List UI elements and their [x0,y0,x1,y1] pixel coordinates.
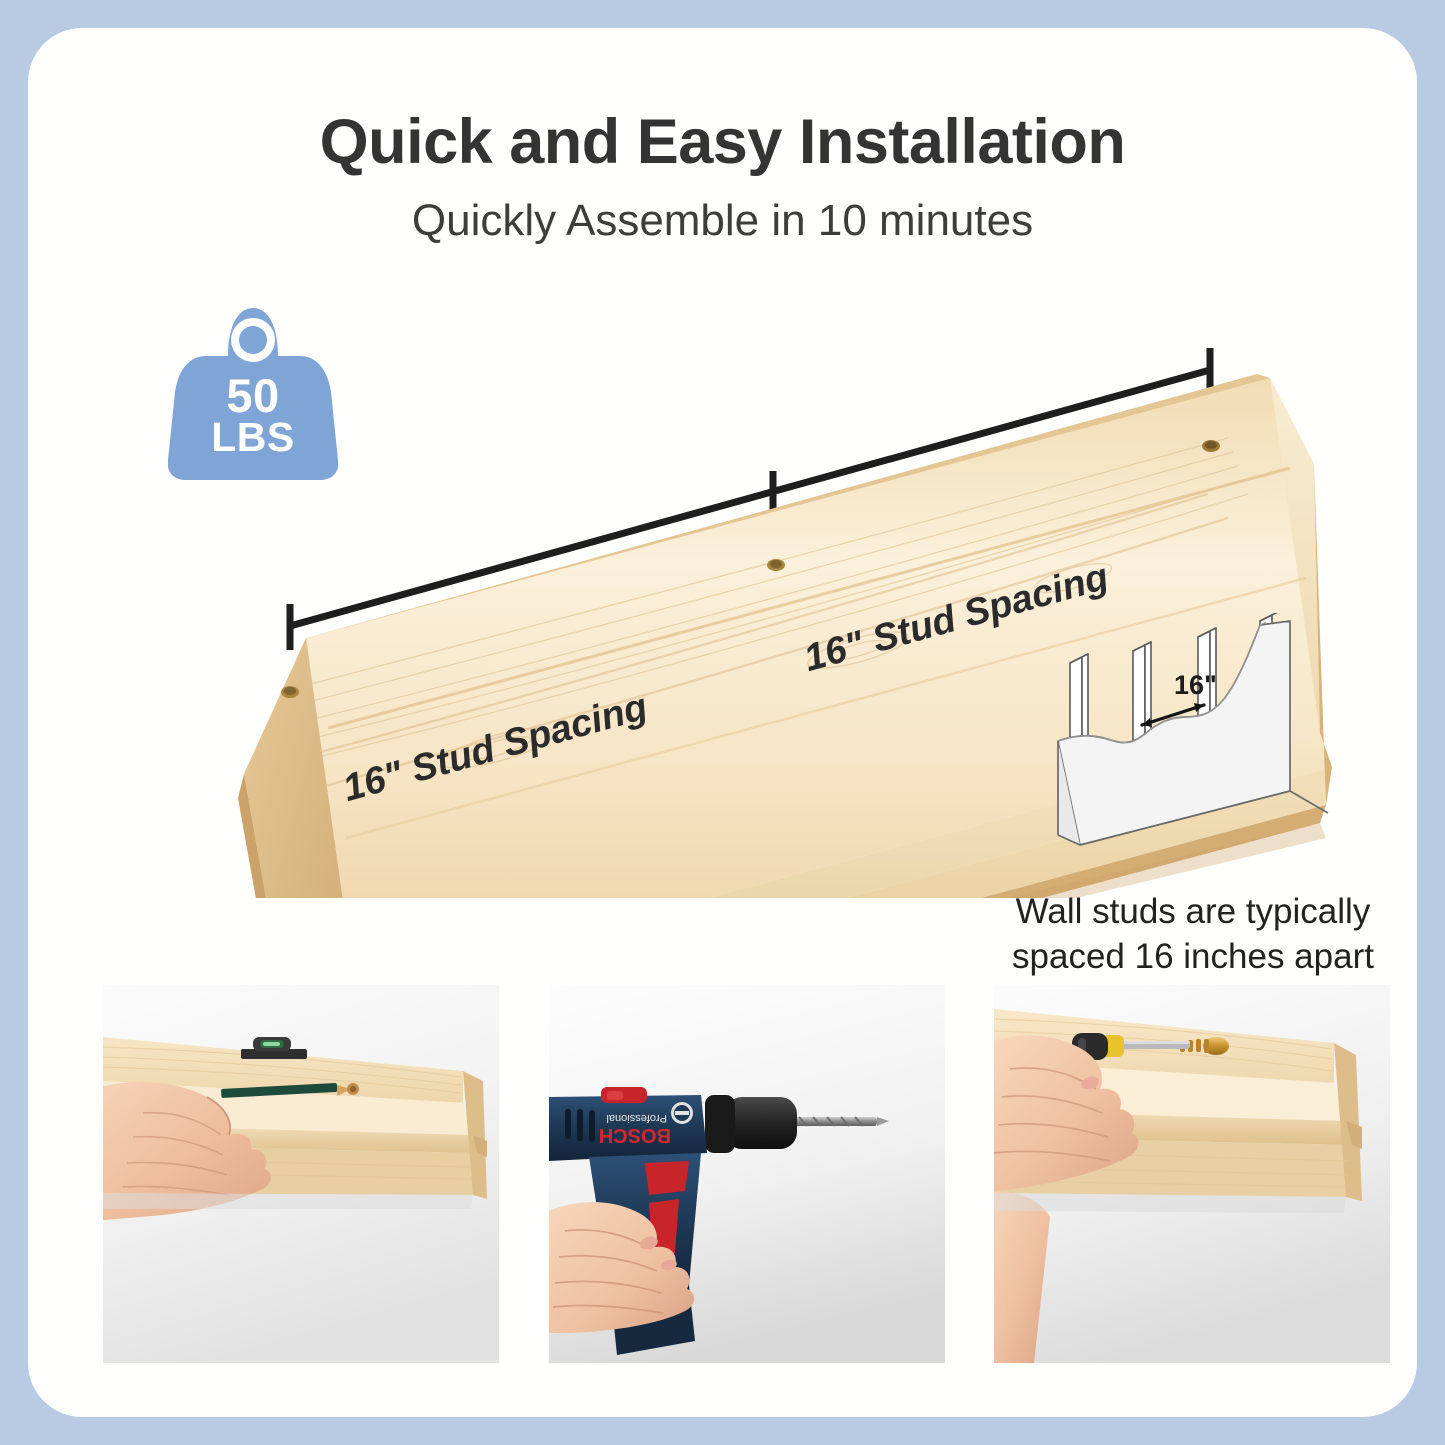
stud-spacing-dimension: 16" [1174,670,1217,701]
screw-center [767,559,785,571]
stud-caption-line-1: Wall studs are typically [983,890,1403,935]
screw-right [1202,440,1220,452]
drill-brand-text: BOSCH [599,1124,671,1146]
wall-studs-cutaway-icon [1028,613,1358,878]
drill-holes-photo: 15 10 BOSCH [549,985,945,1363]
drill-bit [791,1117,889,1126]
drill-line-text: Professional [606,1112,667,1124]
fasten-screws-photo [994,985,1390,1363]
infographic-page: Quick and Easy Installation Quickly Asse… [0,0,1445,1445]
mark-drill-points-photo [103,985,499,1363]
page-title: Quick and Easy Installation [28,106,1417,178]
content-card: Quick and Easy Installation Quickly Asse… [28,28,1417,1417]
screw-left [281,686,299,698]
wall-stud-diagram: 16" [1028,613,1358,878]
page-subtitle: Quickly Assemble in 10 minutes [28,196,1417,246]
stud-caption: Wall studs are typically spaced 16 inche… [983,890,1403,980]
stud-caption-line-2: spaced 16 inches apart [983,935,1403,980]
